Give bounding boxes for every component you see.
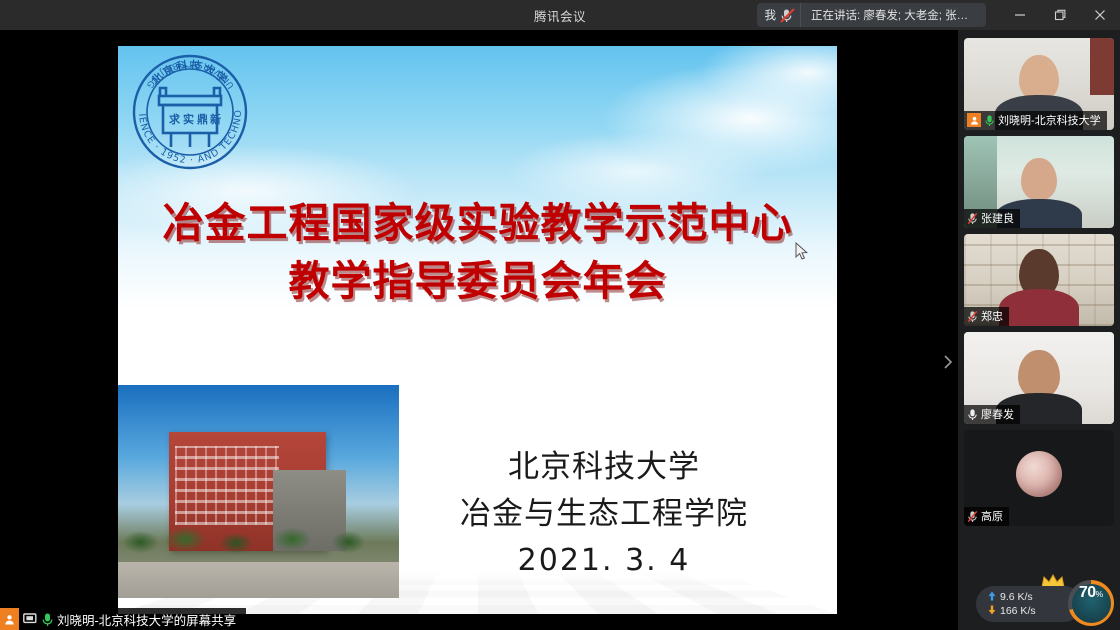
title-bar: 腾讯会议 我 正在讲话: 廖春发; 大老金; 张建…: [0, 0, 1120, 30]
host-badge-icon: [0, 608, 19, 630]
screen-share-icon: [23, 613, 38, 626]
slide-title: 冶金工程国家级实验教学示范中心 教学指导委员会年会: [118, 194, 837, 310]
participant-tile[interactable]: 郑忠: [964, 234, 1114, 326]
mic-muted-icon: [967, 510, 978, 523]
slide-subtitle: 北京科技大学 冶金与生态工程学院 2021. 3. 4: [389, 444, 819, 584]
mic-muted-icon: [967, 310, 978, 323]
window-controls: [1000, 0, 1120, 30]
photo-plaza: [118, 562, 399, 598]
presentation-slide: OF SCIENCE · 1952 · AND TECHNOLOGY UNIVE…: [118, 46, 837, 614]
mic-on-icon: [984, 114, 995, 127]
network-status-widget[interactable]: VIP 9.6 K/s 166 K/s: [964, 578, 1114, 622]
participant-nameplate: 张建良: [964, 209, 1020, 228]
avatar: [1016, 451, 1062, 497]
mic-muted-icon: [967, 212, 978, 225]
participant-nameplate: 廖春发: [964, 405, 1020, 424]
gauge-value: 70: [1079, 584, 1096, 602]
svg-text:求: 求: [169, 112, 181, 126]
title-bar-right: 我 正在讲话: 廖春发; 大老金; 张建…: [757, 0, 1120, 30]
host-badge-icon: [967, 113, 981, 127]
screen-share-status-bar: 刘晓明-北京科技大学的屏幕共享: [0, 608, 246, 630]
speaking-now-text: 正在讲话: 廖春发; 大老金; 张建…: [801, 7, 986, 23]
app-title: 腾讯会议: [534, 6, 586, 25]
self-audio-button[interactable]: 我: [757, 3, 802, 27]
shared-screen-stage[interactable]: OF SCIENCE · 1952 · AND TECHNOLOGY UNIVE…: [0, 30, 958, 630]
participant-nameplate: 郑忠: [964, 307, 1009, 326]
collapse-sidebar-chevron[interactable]: [941, 350, 955, 374]
arrow-down-icon: [988, 605, 996, 618]
person-head: [1021, 158, 1057, 200]
participant-name: 刘晓明-北京科技大学: [998, 112, 1101, 128]
participant-tile-active-speaker[interactable]: 廖春发: [964, 332, 1114, 424]
participant-nameplate: 高原: [964, 507, 1009, 526]
participant-name: 高原: [981, 508, 1003, 524]
ustb-seal-logo: OF SCIENCE · 1952 · AND TECHNOLOGY UNIVE…: [129, 51, 251, 173]
upload-speed-value: 9.6 K/s: [1000, 591, 1033, 603]
slide-date: 2021. 3. 4: [389, 538, 819, 584]
person-head: [1018, 350, 1060, 398]
network-speed-pill: 9.6 K/s 166 K/s: [976, 586, 1082, 622]
participant-tile[interactable]: 高原: [964, 430, 1114, 526]
photo-trees: [118, 509, 399, 564]
slide-org-line2: 冶金与生态工程学院: [389, 491, 819, 538]
participant-rail[interactable]: 刘晓明-北京科技大学 张建良: [958, 30, 1120, 630]
participant-name: 张建良: [981, 210, 1014, 226]
speaking-indicator-group[interactable]: 我 正在讲话: 廖春发; 大老金; 张建…: [757, 3, 987, 27]
person-body: [999, 289, 1079, 326]
slide-title-line2: 教学指导委员会年会: [118, 252, 837, 310]
participant-nameplate: 刘晓明-北京科技大学: [964, 111, 1107, 130]
svg-text:鼎: 鼎: [197, 113, 208, 126]
participant-name: 郑忠: [981, 308, 1003, 324]
participant-tile[interactable]: 刘晓明-北京科技大学: [964, 38, 1114, 130]
participant-name: 廖春发: [981, 406, 1014, 422]
gauge-inner: 70 %: [1072, 584, 1111, 623]
person-head: [1019, 55, 1059, 101]
svg-text:实: 实: [183, 112, 194, 126]
share-owner-label: 刘晓明-北京科技大学的屏幕共享: [57, 610, 236, 629]
gauge-unit: %: [1096, 589, 1104, 599]
slide-title-line1: 冶金工程国家级实验教学示范中心: [163, 199, 793, 247]
download-speed-value: 166 K/s: [1000, 605, 1036, 617]
mic-on-icon: [41, 612, 54, 627]
tencent-meeting-window: 腾讯会议 我 正在讲话: 廖春发; 大老金; 张建…: [0, 0, 1120, 630]
mic-on-icon: [967, 408, 978, 421]
cpu-usage-gauge[interactable]: 70 %: [1068, 580, 1114, 626]
mouse-pointer-icon: [795, 242, 809, 262]
campus-building-photo: [118, 385, 399, 598]
close-icon[interactable]: [1080, 0, 1120, 30]
arrow-up-icon: [988, 591, 996, 604]
mic-muted-icon: [780, 8, 793, 23]
participant-tile[interactable]: 张建良: [964, 136, 1114, 228]
self-label: 我: [765, 7, 777, 23]
minimize-icon[interactable]: [1000, 0, 1040, 30]
maximize-icon[interactable]: [1040, 0, 1080, 30]
svg-text:新: 新: [210, 112, 221, 126]
slide-org-line1: 北京科技大学: [389, 444, 819, 491]
